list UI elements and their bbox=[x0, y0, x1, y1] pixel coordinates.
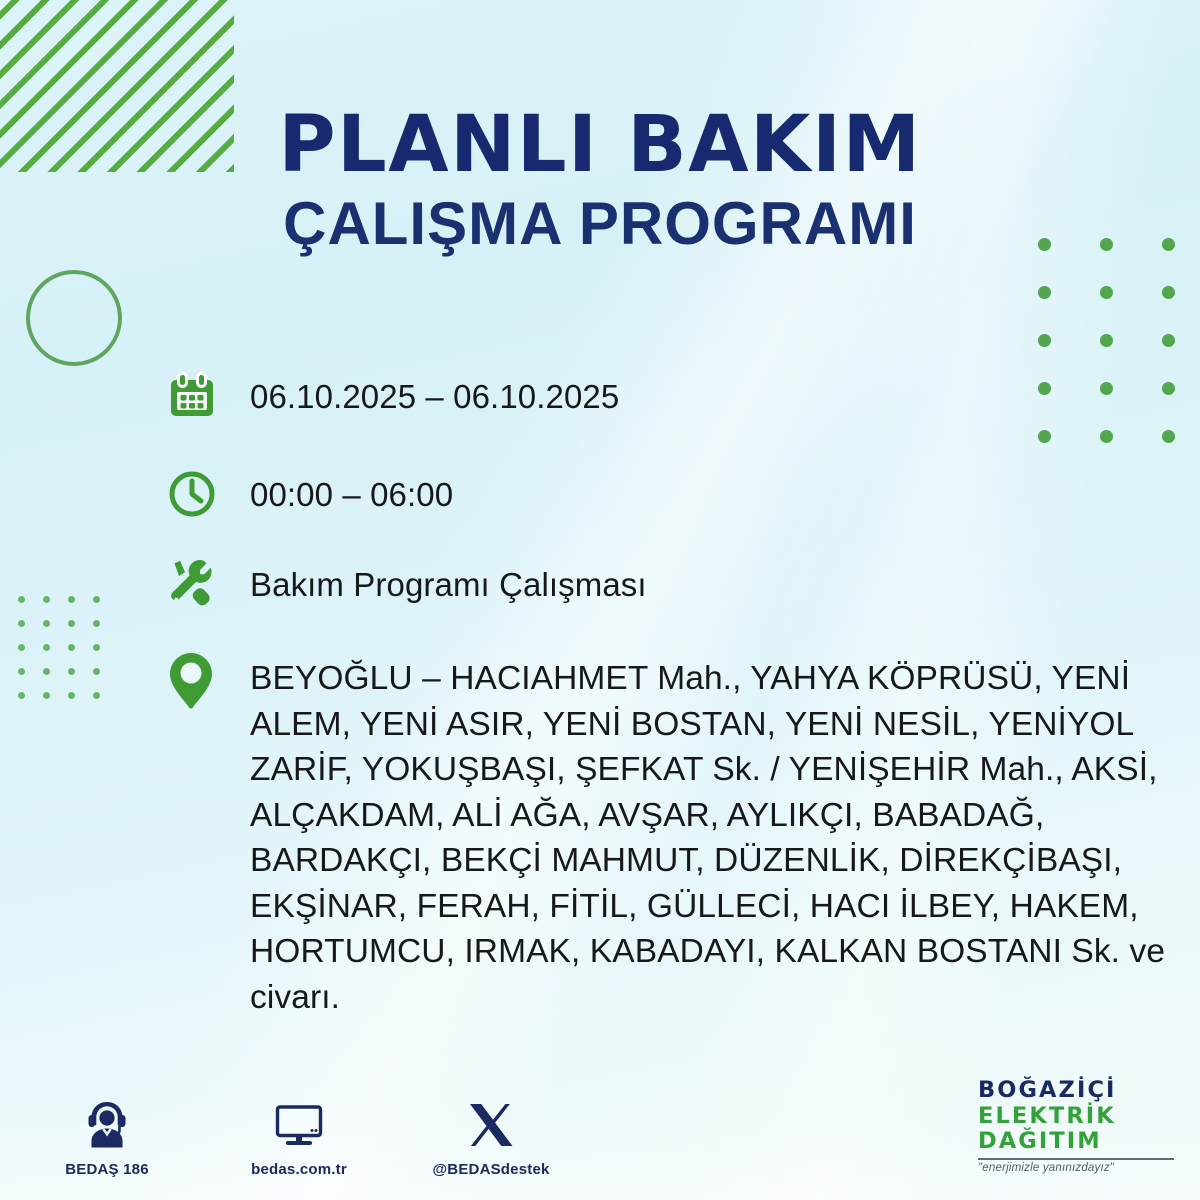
dot bbox=[93, 668, 100, 675]
work-type-row: Bakım Programı Çalışması bbox=[164, 560, 1174, 652]
dot bbox=[93, 692, 100, 699]
dot bbox=[18, 644, 25, 651]
page-subtitle: ÇALIŞMA PROGRAMI bbox=[0, 192, 1200, 255]
tools-icon bbox=[168, 560, 218, 608]
dot bbox=[1162, 286, 1175, 299]
dot bbox=[1038, 286, 1051, 299]
dot bbox=[18, 692, 25, 699]
x-twitter-icon bbox=[426, 1094, 556, 1156]
location-icon-wrap bbox=[164, 652, 250, 710]
dot bbox=[1100, 286, 1113, 299]
outage-info-panel: 06.10.2025 – 06.10.2025 00:00 – 06:00 Ba… bbox=[164, 372, 1174, 1020]
dot bbox=[68, 668, 75, 675]
page-header: PLANLI BAKIM ÇALIŞMA PROGRAMI bbox=[0, 106, 1200, 255]
dot-grid-left-decoration bbox=[18, 596, 118, 716]
dot bbox=[68, 620, 75, 627]
page-footer: BEDAŞ 186 bedas.com.tr bbox=[0, 1056, 1200, 1186]
dot bbox=[68, 644, 75, 651]
map-pin-icon bbox=[168, 652, 214, 710]
clock-icon bbox=[168, 470, 216, 518]
time-icon-wrap bbox=[164, 470, 250, 518]
dot bbox=[1100, 334, 1113, 347]
dot bbox=[43, 620, 50, 627]
logo-line-dagitim: DAĞITIM bbox=[978, 1129, 1174, 1154]
dot bbox=[93, 596, 100, 603]
dot bbox=[68, 692, 75, 699]
dot bbox=[18, 668, 25, 675]
footer-link-call-center[interactable]: BEDAŞ 186 bbox=[42, 1094, 172, 1178]
calendar-icon bbox=[168, 372, 216, 420]
location-text: BEYOĞLU – HACIAHMET Mah., YAHYA KÖPRÜSÜ,… bbox=[250, 652, 1174, 1020]
dot bbox=[18, 596, 25, 603]
monitor-icon bbox=[234, 1094, 364, 1156]
date-icon-wrap bbox=[164, 372, 250, 420]
dot bbox=[43, 596, 50, 603]
dot bbox=[93, 644, 100, 651]
footer-contact-links: BEDAŞ 186 bedas.com.tr bbox=[42, 1094, 556, 1178]
logo-tagline: "enerjimizle yanınızdayız" bbox=[978, 1162, 1174, 1174]
logo-line-bogazici: BOĞAZİÇİ bbox=[978, 1078, 1174, 1103]
footer-link-label: @BEDASdestek bbox=[426, 1161, 556, 1178]
dot bbox=[43, 692, 50, 699]
work-icon-wrap bbox=[164, 560, 250, 608]
circle-outline-decoration bbox=[26, 270, 122, 366]
dot bbox=[93, 620, 100, 627]
date-row: 06.10.2025 – 06.10.2025 bbox=[164, 372, 1174, 470]
bedas-logo: BOĞAZİÇİ ELEKTRİK DAĞITIM "enerjimizle y… bbox=[978, 1078, 1174, 1174]
footer-link-twitter[interactable]: @BEDASdestek bbox=[426, 1094, 556, 1178]
work-type-text: Bakım Programı Çalışması bbox=[250, 560, 647, 606]
logo-line-elektrik: ELEKTRİK bbox=[978, 1104, 1174, 1129]
location-row: BEYOĞLU – HACIAHMET Mah., YAHYA KÖPRÜSÜ,… bbox=[164, 652, 1174, 1020]
footer-link-label: bedas.com.tr bbox=[234, 1161, 364, 1178]
dot bbox=[43, 668, 50, 675]
support-agent-icon bbox=[42, 1094, 172, 1156]
footer-link-website[interactable]: bedas.com.tr bbox=[234, 1094, 364, 1178]
page-title: PLANLI BAKIM bbox=[0, 106, 1200, 186]
dot bbox=[43, 644, 50, 651]
date-range-text: 06.10.2025 – 06.10.2025 bbox=[250, 372, 619, 418]
dot bbox=[18, 620, 25, 627]
time-range-text: 00:00 – 06:00 bbox=[250, 470, 453, 516]
footer-link-label: BEDAŞ 186 bbox=[42, 1161, 172, 1178]
dot bbox=[1038, 334, 1051, 347]
dot bbox=[1162, 334, 1175, 347]
time-row: 00:00 – 06:00 bbox=[164, 470, 1174, 560]
dot bbox=[68, 596, 75, 603]
logo-divider bbox=[978, 1158, 1174, 1160]
